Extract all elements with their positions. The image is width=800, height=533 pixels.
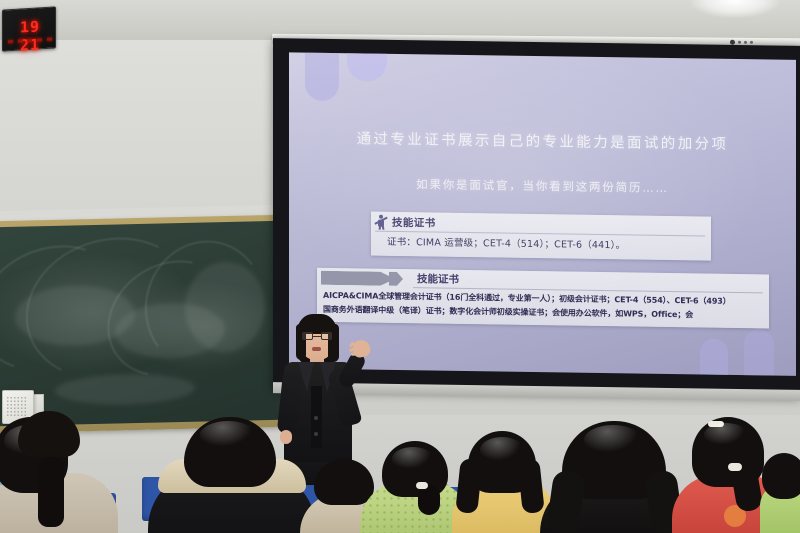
resume-card-2-heading: 技能证书: [417, 271, 459, 287]
classroom-scene: 19 21 通过专业证: [0, 0, 800, 533]
slide-title: 通过专业证书展示自己的专业能力是面试的加分项: [289, 126, 796, 155]
audience-member: [540, 421, 690, 533]
audience-member: [760, 453, 800, 533]
slide-subtitle: 如果你是面试官，当你看到这两份简历……: [289, 174, 796, 198]
slide-decor-shape-1: [305, 52, 339, 101]
glasses-icon: [302, 332, 332, 340]
audience-member: [148, 417, 318, 533]
resume-card-2: 技能证书 AICPA&CIMA全球管理会计证书（16门全科通过，专业第一人）；初…: [317, 268, 769, 329]
audience-member: [18, 411, 80, 457]
slide-decor-shape-2: [347, 52, 387, 81]
resume-card-1-heading: 技能证书: [392, 215, 436, 231]
chevron-banner-icon: [321, 271, 395, 286]
person-icon: [375, 215, 387, 230]
chevron-arrow-icon: [389, 272, 403, 286]
slide-decor-shape-4: [744, 329, 774, 376]
digital-led-clock: 19 21: [2, 6, 56, 51]
resume-card-1: 技能证书 证书：CIMA 运营级；CET-4（514）；CET-6（441）。: [371, 212, 711, 261]
ceiling-light-glow: [690, 0, 780, 18]
presenter-gesturing-hand: [351, 338, 371, 358]
slide-decor-shape-3: [700, 338, 728, 375]
